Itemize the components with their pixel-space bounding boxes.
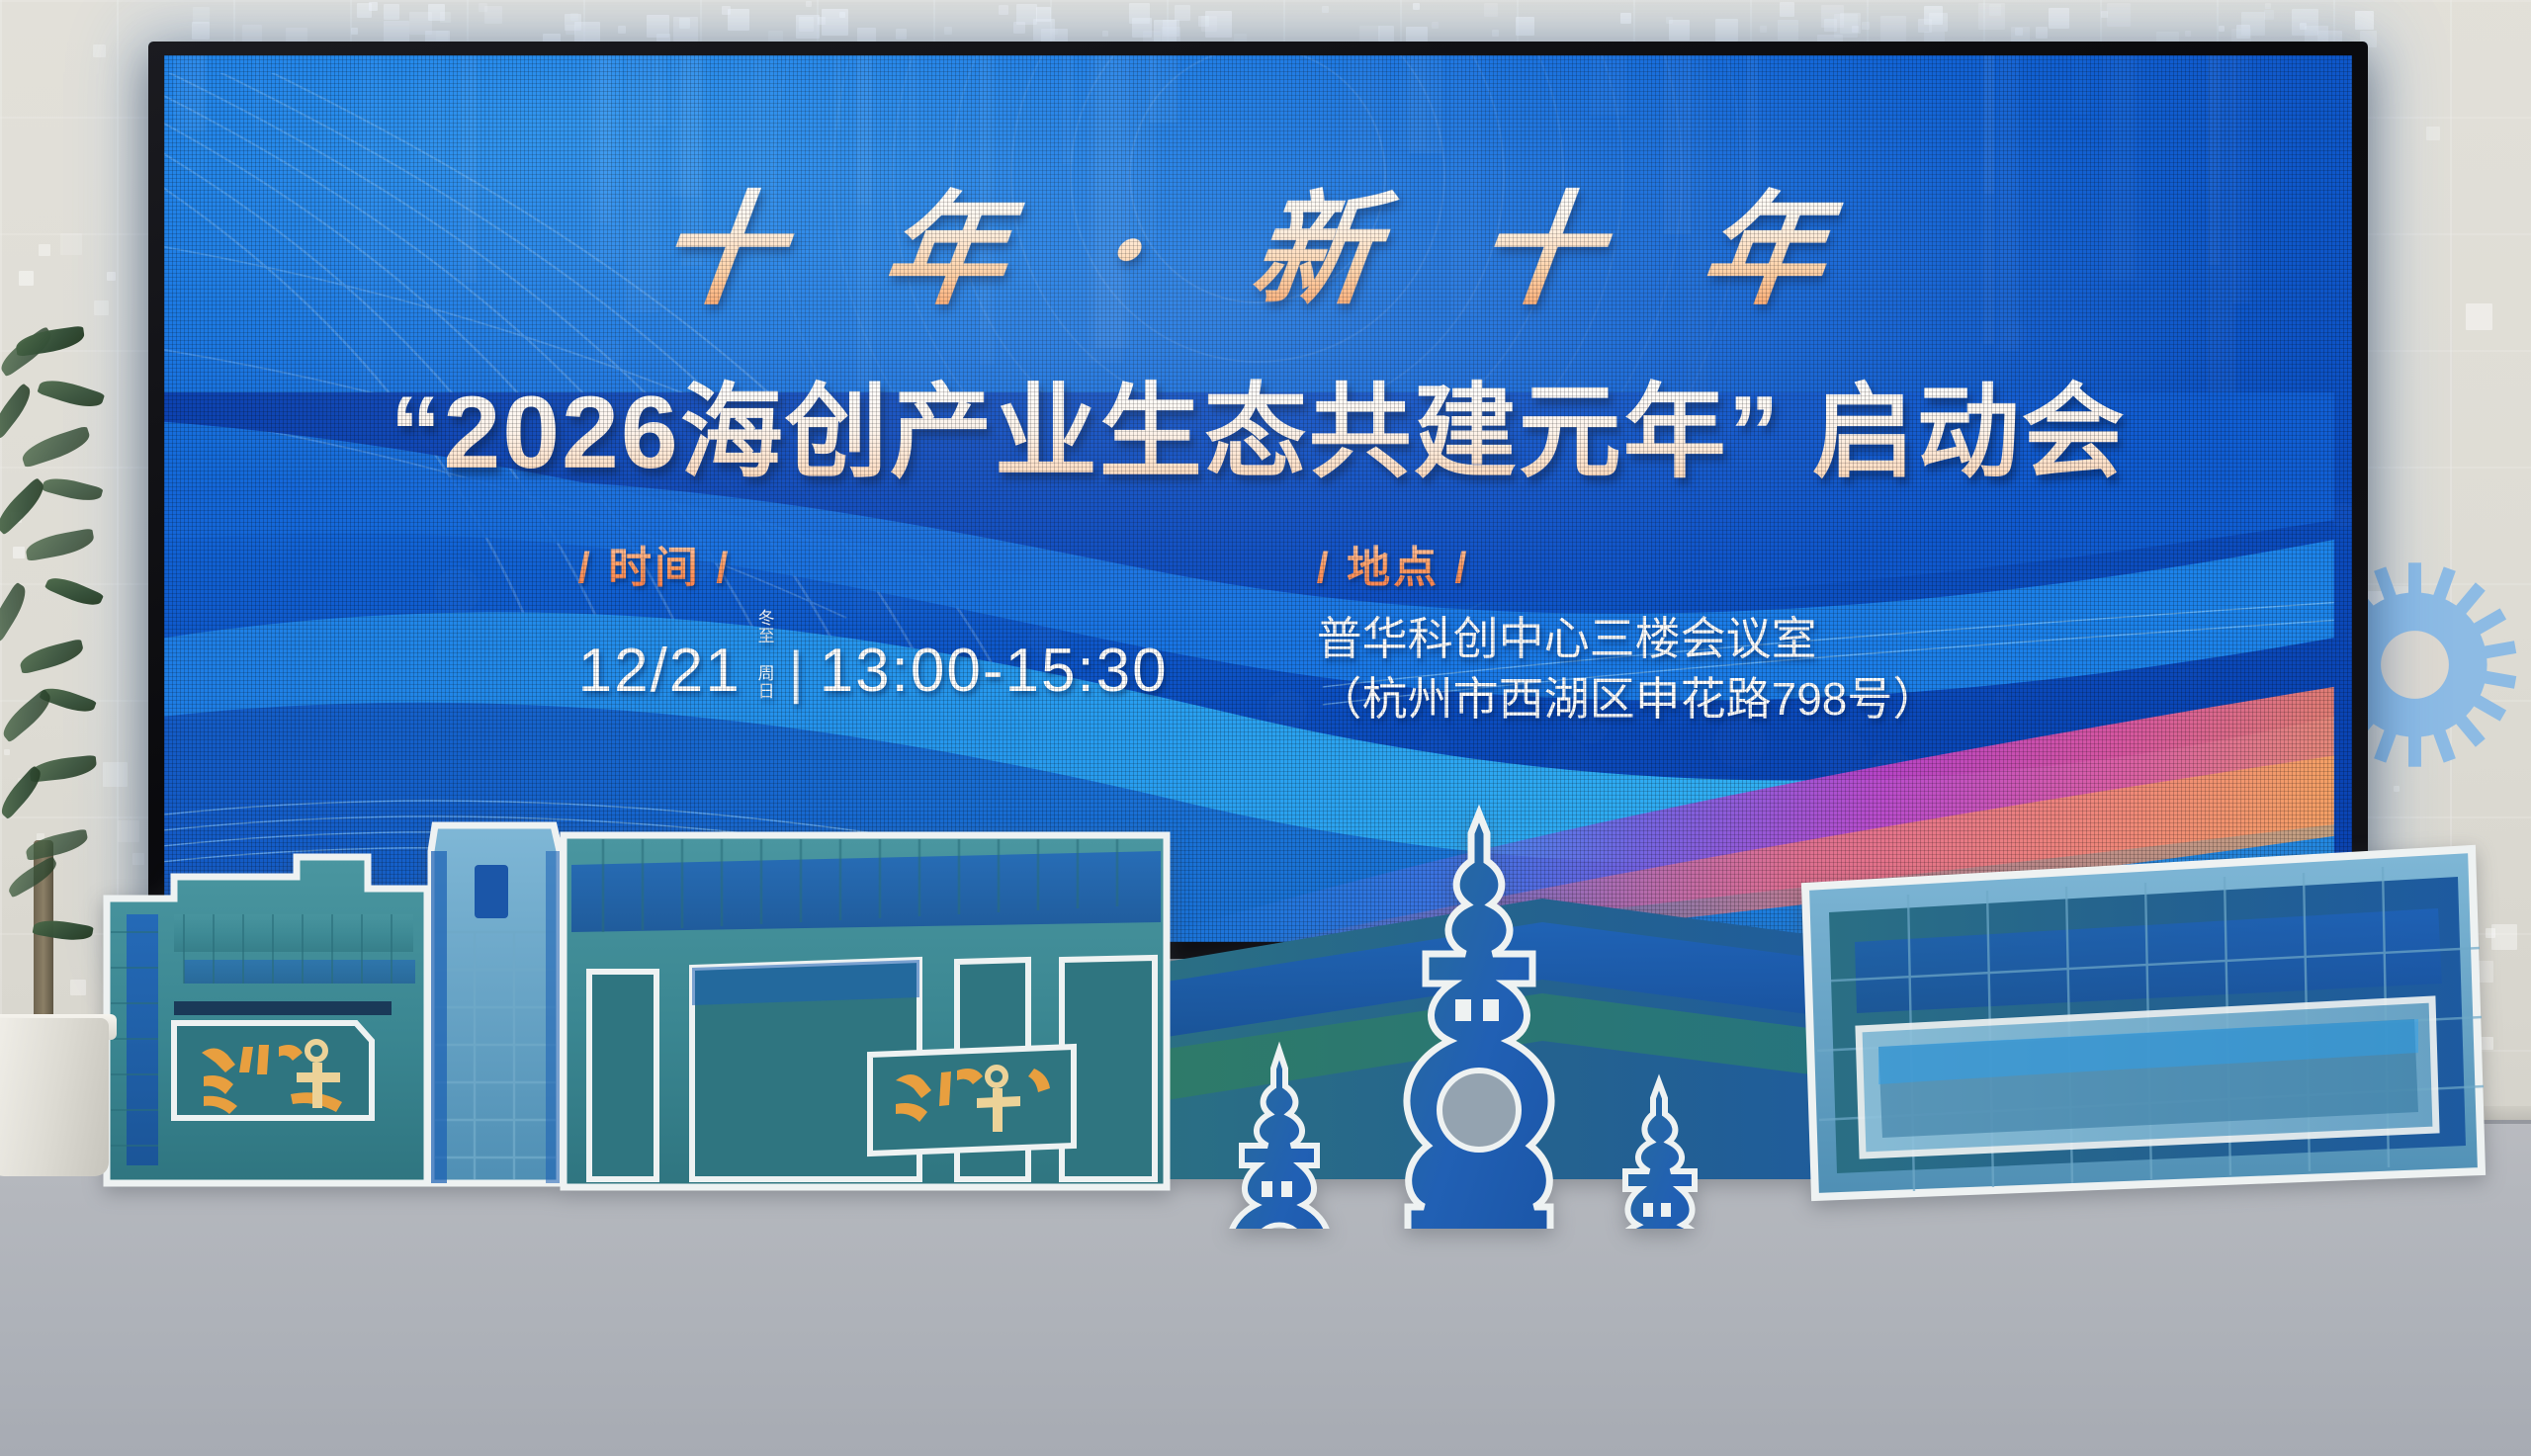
- time-block: / 时间 / 12/21 冬至 周日 | 13:00-15:30: [578, 532, 1169, 706]
- place-label: / 地点 /: [1317, 532, 1939, 595]
- stage-props: [0, 804, 2531, 1229]
- stage-prop-cutouts: [0, 804, 2531, 1229]
- time-divider: |: [787, 640, 806, 706]
- prop-center-gateway: [564, 835, 1167, 1187]
- prop-pagoda-center: [1407, 814, 1551, 1229]
- prop-sign-center: [870, 1047, 1074, 1154]
- place-line-2: （杭州市西湖区申花路798号）: [1317, 669, 1939, 729]
- potted-plant: [0, 326, 229, 1216]
- event-date: 12/21: [578, 636, 742, 706]
- prop-right-panel: [1805, 849, 2484, 1197]
- place-block: / 地点 / 普华科创中心三楼会议室 （杭州市西湖区申花路798号）: [1317, 532, 1939, 728]
- time-value-line: 12/21 冬至 周日 | 13:00-15:30: [578, 609, 1169, 706]
- plant-pot: [0, 1018, 109, 1176]
- event-time-range: 13:00-15:30: [820, 636, 1169, 706]
- prop-tower: [431, 825, 560, 1183]
- event-headline: 十 年 · 新 十 年: [164, 150, 2352, 328]
- event-date-note: 冬至 周日: [755, 609, 773, 706]
- place-line-1: 普华科创中心三楼会议室: [1317, 609, 1939, 669]
- time-label: / 时间 /: [578, 532, 1169, 595]
- event-subtitle: “2026海创产业生态共建元年” 启动会: [164, 348, 2352, 497]
- conference-room-scene: 十 年 · 新 十 年 “2026海创产业生态共建元年” 启动会 / 时间 / …: [0, 0, 2531, 1456]
- event-info-row: / 时间 / 12/21 冬至 周日 | 13:00-15:30 / 地点 / …: [164, 532, 2352, 728]
